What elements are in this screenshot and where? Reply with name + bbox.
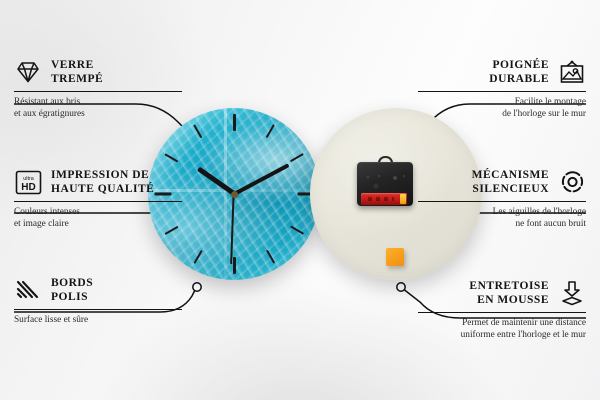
clock-tick [193, 250, 203, 264]
battery-label [368, 197, 394, 201]
feature-header: VERRE TREMPÉ [14, 58, 182, 87]
feature-title-line1: BORDS [51, 277, 93, 289]
infographic-stage: VERRE TREMPÉ Résistant aux bris et aux é… [0, 0, 600, 400]
second-hand [231, 194, 235, 264]
feature-title-line1: POIGNÉE [492, 59, 549, 71]
feature-title-line1: IMPRESSION DE [51, 169, 149, 181]
feature-desc-line1: Surface lisse et sûre [14, 315, 88, 325]
feature-divider [14, 309, 182, 310]
quartz-mechanism [357, 156, 413, 206]
battery-positive-tip [400, 194, 406, 204]
feature-desc-line1: Permet de maintenir une distance [462, 318, 586, 328]
feature-description: Permet de maintenir une distance uniform… [418, 317, 586, 342]
clock-tick [290, 153, 304, 163]
feature-title: VERRE TREMPÉ [51, 58, 103, 87]
clock-tick [233, 257, 236, 274]
clock-center-cap [231, 191, 238, 198]
feature-entretoise-en-mousse: ENTRETOISE EN MOUSSE Permet de maintenir… [418, 279, 586, 342]
feature-poignee-durable: POIGNÉE DURABLE Facilite le montage de l… [418, 58, 586, 121]
gear-icon [558, 168, 586, 196]
feature-verre-trempe: VERRE TREMPÉ Résistant aux bris et aux é… [14, 58, 182, 121]
feature-header: BORDS POLIS [14, 276, 182, 305]
feature-title-line1: ENTRETOISE [469, 280, 549, 292]
clock-tick [265, 250, 275, 264]
foam-spacer-icon [558, 279, 586, 307]
picture-hanger-icon [558, 58, 586, 86]
feature-title: BORDS POLIS [51, 276, 93, 305]
feature-title: MÉCANISME SILENCIEUX [472, 168, 549, 197]
feature-desc-line2: de l'horloge sur le mur [502, 109, 586, 119]
mechanism-housing [357, 162, 413, 206]
feature-description: Couleurs intenses et image claire [14, 206, 182, 231]
mechanism-details [362, 173, 408, 189]
foam-spacer [386, 248, 404, 266]
feature-divider [418, 201, 586, 202]
diamond-icon [14, 58, 42, 86]
polished-edges-icon [14, 276, 42, 304]
feature-desc-line2: uniforme entre l'horloge et le mur [461, 330, 586, 340]
feature-divider [418, 91, 586, 92]
feature-title: IMPRESSION DE HAUTE QUALITÉ [51, 168, 154, 197]
feature-desc-line2: ne font aucun bruit [516, 219, 586, 229]
leader-dot-bords [193, 283, 201, 291]
feature-title: ENTRETOISE EN MOUSSE [469, 279, 549, 308]
feature-title-line1: VERRE [51, 59, 94, 71]
battery [361, 193, 407, 205]
feature-title-line2: DURABLE [489, 73, 549, 85]
feature-bords-polis: BORDS POLIS Surface lisse et sûre [14, 276, 182, 326]
feature-divider [14, 91, 182, 92]
feature-description: Résistant aux bris et aux égratignures [14, 96, 182, 121]
feature-header: MÉCANISME SILENCIEUX [418, 168, 586, 197]
feature-title: POIGNÉE DURABLE [489, 58, 549, 87]
feature-divider [14, 201, 182, 202]
feature-title-line2: EN MOUSSE [477, 294, 549, 306]
feature-divider [418, 312, 586, 313]
feature-desc-line2: et aux égratignures [14, 109, 85, 119]
feature-title-line2: POLIS [51, 291, 88, 303]
feature-description: Surface lisse et sûre [14, 314, 182, 326]
feature-impression-haute-qualite: ultra HD IMPRESSION DE HAUTE QUALITÉ Cou… [14, 168, 182, 231]
feature-desc-line2: et image claire [14, 219, 69, 229]
feature-header: POIGNÉE DURABLE [418, 58, 586, 87]
feature-title-line1: MÉCANISME [472, 169, 549, 181]
feature-header: ultra HD IMPRESSION DE HAUTE QUALITÉ [14, 168, 182, 197]
ultra-hd-icon: ultra HD [14, 168, 42, 196]
feature-title-line2: HAUTE QUALITÉ [51, 183, 154, 195]
feature-description: Les aiguilles de l'horloge ne font aucun… [418, 206, 586, 231]
feature-description: Facilite le montage de l'horloge sur le … [418, 96, 586, 121]
glass-reflection-vertical [224, 108, 227, 280]
feature-title-line2: TREMPÉ [51, 73, 103, 85]
feature-desc-line1: Couleurs intenses [14, 207, 80, 217]
feature-desc-line1: Les aiguilles de l'horloge [493, 207, 586, 217]
feature-desc-line1: Facilite le montage [515, 97, 586, 107]
clock-tick [290, 225, 304, 235]
feature-desc-line1: Résistant aux bris [14, 97, 80, 107]
svg-text:HD: HD [21, 182, 35, 193]
feature-mecanisme-silencieux: MÉCANISME SILENCIEUX Les aiguilles de l'… [418, 168, 586, 231]
leader-dot-entretoise [397, 283, 405, 291]
feature-title-line2: SILENCIEUX [472, 183, 549, 195]
feature-header: ENTRETOISE EN MOUSSE [418, 279, 586, 308]
clock-tick [233, 114, 236, 131]
